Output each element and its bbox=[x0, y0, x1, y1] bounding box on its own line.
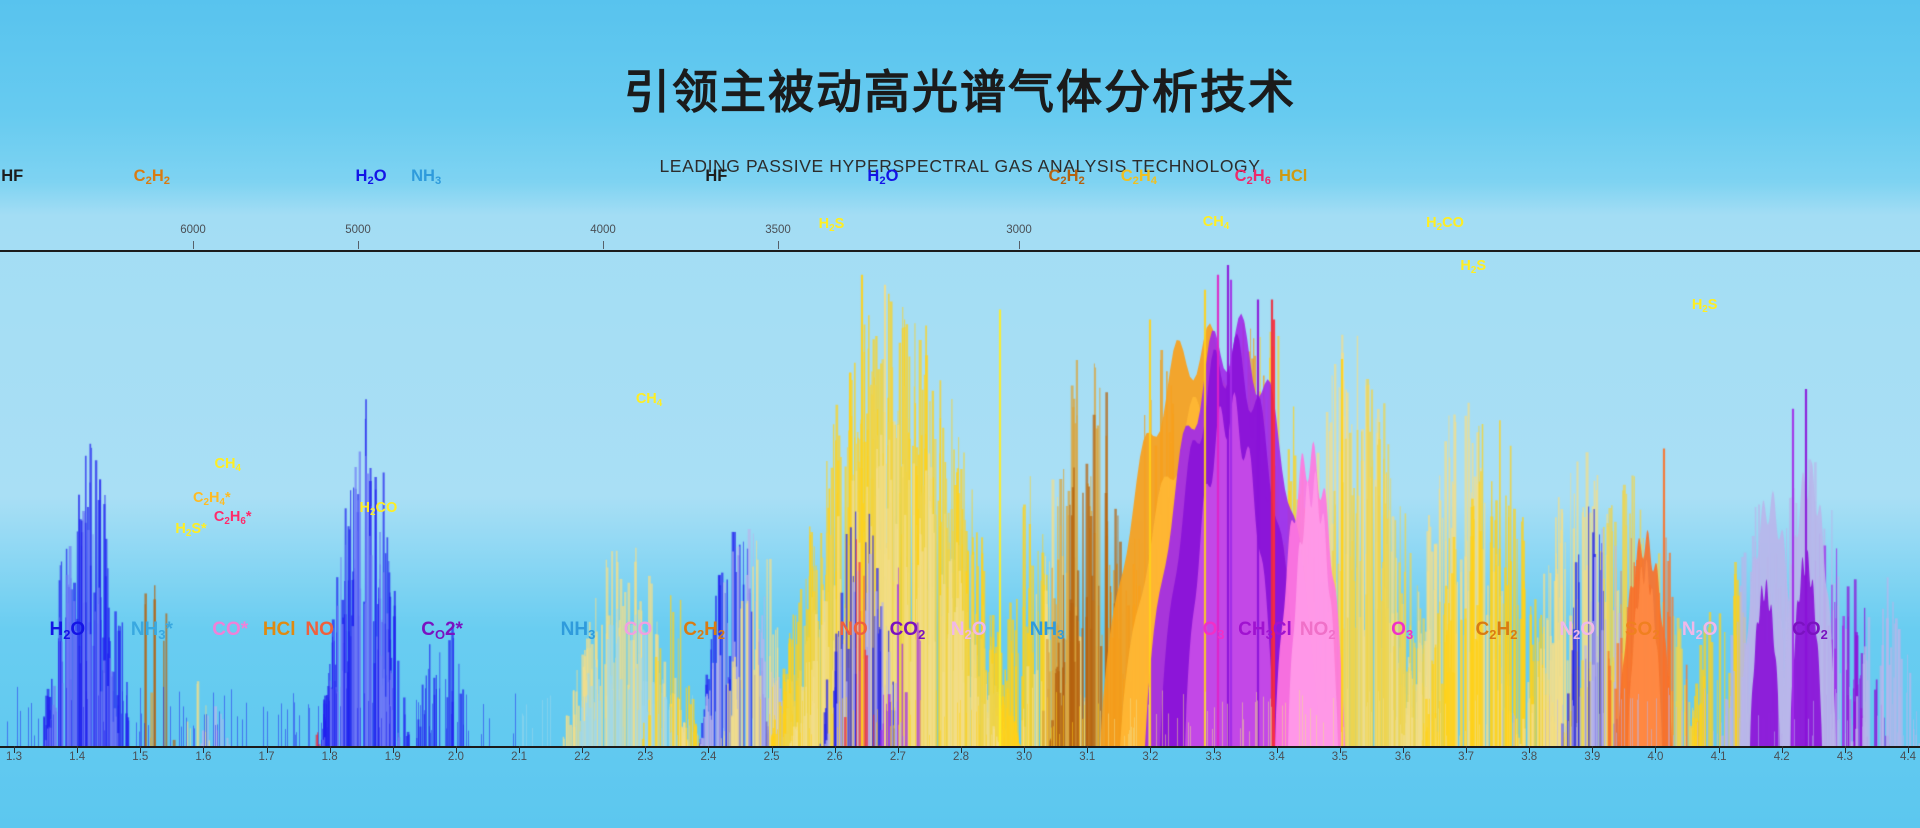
page-subtitle: LEADING PASSIVE HYPERSPECTRAL GAS ANALYS… bbox=[0, 156, 1920, 177]
gas-label-nh3: NH3 bbox=[561, 619, 596, 641]
bottom-tick-mark bbox=[898, 746, 899, 753]
gas-label-co2: CO2 bbox=[890, 619, 926, 641]
bottom-axis-line bbox=[0, 746, 1920, 748]
gas-label-h2o: H2O bbox=[867, 167, 898, 186]
gas-label-no: NO bbox=[305, 619, 334, 641]
gas-label-n2o: N2O bbox=[1559, 619, 1595, 641]
top-tick-mark bbox=[358, 241, 359, 249]
bottom-tick-mark bbox=[835, 746, 836, 753]
bottom-tick-mark bbox=[1845, 746, 1846, 753]
gas-label-co: CO* bbox=[212, 619, 248, 641]
gas-label-c2h2: C2H2 bbox=[683, 619, 725, 641]
top-tick-mark bbox=[193, 241, 194, 249]
gas-label-co2: CO2 bbox=[1792, 619, 1828, 641]
page-title: 引领主被动高光谱气体分析技术 bbox=[0, 56, 1920, 122]
spectrum-canvas bbox=[0, 250, 1920, 746]
bottom-tick-mark bbox=[1782, 746, 1783, 753]
gas-label-c2h4: C2H4* bbox=[193, 490, 231, 506]
bottom-tick-mark bbox=[140, 746, 141, 753]
bottom-tick-mark bbox=[1466, 746, 1467, 753]
spectral-poster: 引领主被动高光谱气体分析技术 LEADING PASSIVE HYPERSPEC… bbox=[0, 0, 1920, 828]
gas-label-o3: O3 bbox=[1391, 619, 1413, 641]
bottom-tick-mark bbox=[1719, 746, 1720, 753]
top-tick-label: 4000 bbox=[590, 224, 616, 236]
gas-label-so2: SO2 bbox=[1625, 619, 1660, 641]
bottom-tick-mark bbox=[1087, 746, 1088, 753]
gas-label-c2h6: C2H6 bbox=[1235, 167, 1271, 186]
gas-label-ch4: CH4 bbox=[1203, 214, 1229, 230]
bottom-tick-mark bbox=[708, 746, 709, 753]
bottom-tick-mark bbox=[1529, 746, 1530, 753]
bottom-tick-mark bbox=[1908, 746, 1909, 753]
bottom-tick-mark bbox=[1277, 746, 1278, 753]
gas-label-nh3: NH3 bbox=[1030, 619, 1065, 641]
gas-label-c2h2: C2H2 bbox=[1476, 619, 1518, 641]
spectrum-plot bbox=[0, 250, 1920, 746]
top-tick-label: 3000 bbox=[1006, 224, 1032, 236]
bottom-tick-mark bbox=[519, 746, 520, 753]
gas-label-c2h2: C2H2 bbox=[134, 167, 170, 186]
gas-label-ch4: CH4 bbox=[215, 456, 241, 472]
bottom-tick-mark bbox=[582, 746, 583, 753]
gas-label-h2s: H2S* bbox=[175, 521, 206, 537]
bottom-tick-mark bbox=[77, 746, 78, 753]
bottom-tick-mark bbox=[1024, 746, 1025, 753]
gas-label-h2o: H2O bbox=[356, 167, 387, 186]
bottom-tick-mark bbox=[1340, 746, 1341, 753]
gas-label-nh3: NH3 bbox=[411, 167, 441, 186]
bottom-tick-mark bbox=[772, 746, 773, 753]
top-tick-mark bbox=[603, 241, 604, 249]
gas-label-o3: O3 bbox=[1203, 619, 1225, 641]
gas-label-no: NO bbox=[839, 619, 868, 641]
bottom-tick-mark bbox=[203, 746, 204, 753]
gas-label-nh3: NH3* bbox=[131, 619, 173, 641]
gas-label-h2co: H2CO bbox=[1426, 215, 1464, 231]
gas-label-no2: NO2 bbox=[1300, 619, 1336, 641]
bottom-tick-mark bbox=[330, 746, 331, 753]
bottom-tick-mark bbox=[14, 746, 15, 753]
gas-label-n2o: N2O bbox=[1682, 619, 1718, 641]
gas-label-ch4: CH4 bbox=[636, 391, 662, 407]
bottom-tick-mark bbox=[961, 746, 962, 753]
bottom-tick-mark bbox=[1214, 746, 1215, 753]
bottom-tick-mark bbox=[1592, 746, 1593, 753]
bottom-tick-mark bbox=[1403, 746, 1404, 753]
top-tick-mark bbox=[778, 241, 779, 249]
gas-label-h2s: H2S bbox=[1460, 258, 1486, 274]
top-tick-mark bbox=[1019, 241, 1020, 249]
top-tick-label: 5000 bbox=[345, 224, 371, 236]
gas-label-h2s: H2S bbox=[819, 216, 845, 232]
gas-label-c2h2: C2H2 bbox=[1048, 167, 1084, 186]
bottom-tick-mark bbox=[1150, 746, 1151, 753]
bottom-tick-mark bbox=[267, 746, 268, 753]
bottom-tick-mark bbox=[645, 746, 646, 753]
gas-label-n2o: N2O bbox=[951, 619, 987, 641]
gas-label-h2s: H2S bbox=[1692, 297, 1718, 313]
bottom-tick-mark bbox=[393, 746, 394, 753]
gas-label-hf: HF bbox=[1, 167, 23, 186]
bottom-tick-mark bbox=[456, 746, 457, 753]
gas-label-co2: CO2* bbox=[421, 619, 463, 641]
poster-header: 引领主被动高光谱气体分析技术 LEADING PASSIVE HYPERSPEC… bbox=[0, 0, 1920, 200]
gas-label-ch3cl: CH3Cl bbox=[1238, 619, 1292, 641]
gas-label-hf: HF bbox=[705, 167, 727, 186]
gas-label-c2h6: C2H6* bbox=[214, 509, 252, 525]
top-tick-label: 3500 bbox=[765, 224, 791, 236]
bottom-tick-mark bbox=[1655, 746, 1656, 753]
gas-label-co: CO bbox=[624, 619, 653, 641]
gas-label-c2h4: C2H4 bbox=[1121, 167, 1157, 186]
gas-label-hcl: HCl bbox=[263, 619, 296, 641]
gas-label-h2o: H2O bbox=[49, 619, 85, 641]
gas-label-h2co: H2CO bbox=[360, 500, 398, 516]
top-tick-label: 6000 bbox=[180, 224, 206, 236]
gas-label-hcl: HCl bbox=[1279, 167, 1307, 186]
